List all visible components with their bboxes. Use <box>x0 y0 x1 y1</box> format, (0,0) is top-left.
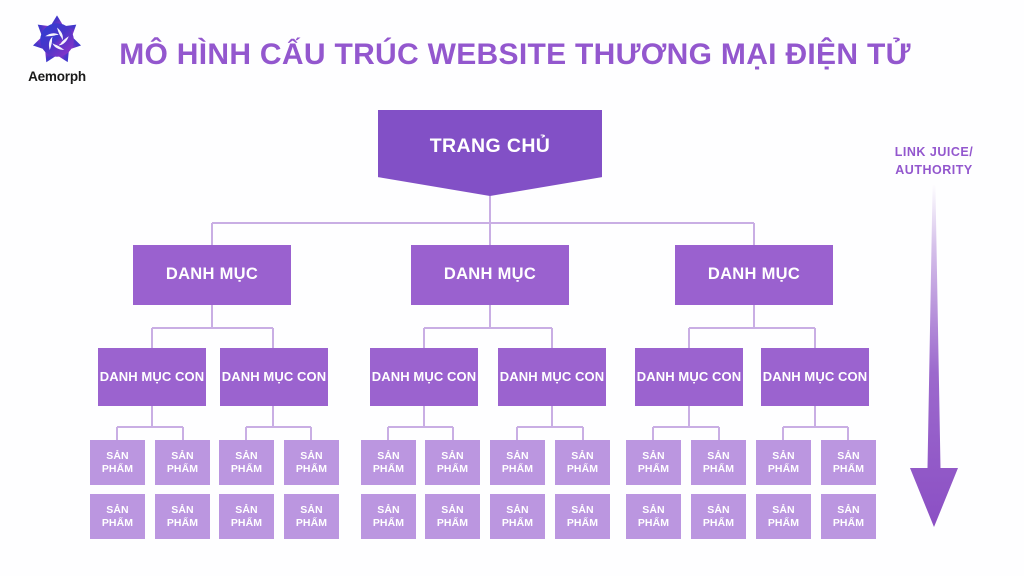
node-subcategory-3-1[interactable]: DANH MỤC CON <box>635 348 743 406</box>
node-category-label: DANH MỤC <box>444 265 536 284</box>
node-subcategory-label: DANH MỤC CON <box>763 369 867 384</box>
node-product-label: SẢN PHẨM <box>490 504 545 529</box>
node-subcategory-label: DANH MỤC CON <box>500 369 604 384</box>
node-product[interactable]: SẢN PHẨM <box>425 440 480 485</box>
node-subcategory-label: DANH MỤC CON <box>222 369 326 384</box>
node-subcategory-label: DANH MỤC CON <box>637 369 741 384</box>
node-product-label: SẢN PHẨM <box>219 450 274 475</box>
node-product-label: SẢN PHẨM <box>155 450 210 475</box>
link-juice-legend: LINK JUICE/ AUTHORITY <box>854 143 1014 179</box>
node-product[interactable]: SẢN PHẨM <box>555 494 610 539</box>
node-product-label: SẢN PHẨM <box>626 450 681 475</box>
node-subcategory-label: DANH MỤC CON <box>372 369 476 384</box>
node-subcategory-2-1[interactable]: DANH MỤC CON <box>370 348 478 406</box>
node-product[interactable]: SẢN PHẨM <box>821 494 876 539</box>
node-home[interactable]: TRANG CHỦ <box>378 110 602 196</box>
node-product-label: SẢN PHẨM <box>90 504 145 529</box>
node-product[interactable]: SẢN PHẨM <box>284 494 339 539</box>
node-product-label: SẢN PHẨM <box>284 504 339 529</box>
node-product[interactable]: SẢN PHẨM <box>490 440 545 485</box>
node-product[interactable]: SẢN PHẨM <box>756 440 811 485</box>
node-product-label: SẢN PHẨM <box>626 504 681 529</box>
link-juice-legend-line1: LINK JUICE/ <box>854 143 1014 161</box>
node-product-label: SẢN PHẨM <box>691 504 746 529</box>
node-product[interactable]: SẢN PHẨM <box>361 494 416 539</box>
node-subcategory-1-1[interactable]: DANH MỤC CON <box>98 348 206 406</box>
node-product[interactable]: SẢN PHẨM <box>361 440 416 485</box>
node-product[interactable]: SẢN PHẨM <box>90 440 145 485</box>
node-product[interactable]: SẢN PHẨM <box>284 440 339 485</box>
node-product-label: SẢN PHẨM <box>691 450 746 475</box>
node-category-2[interactable]: DANH MỤC <box>411 245 569 305</box>
node-product[interactable]: SẢN PHẨM <box>425 494 480 539</box>
link-juice-arrow-icon <box>884 182 984 542</box>
node-product-label: SẢN PHẨM <box>284 450 339 475</box>
node-product-label: SẢN PHẨM <box>821 450 876 475</box>
node-category-1[interactable]: DANH MỤC <box>133 245 291 305</box>
node-home-label: TRANG CHỦ <box>430 135 551 158</box>
node-product[interactable]: SẢN PHẨM <box>155 494 210 539</box>
infographic-page: Aemorph MÔ HÌNH CẤU TRÚC WEBSITE THƯƠNG … <box>0 0 1024 576</box>
node-product-label: SẢN PHẨM <box>155 504 210 529</box>
node-product[interactable]: SẢN PHẨM <box>219 440 274 485</box>
node-subcategory-2-2[interactable]: DANH MỤC CON <box>498 348 606 406</box>
node-product-label: SẢN PHẨM <box>555 504 610 529</box>
node-product-label: SẢN PHẨM <box>756 504 811 529</box>
node-product[interactable]: SẢN PHẨM <box>626 494 681 539</box>
node-product-label: SẢN PHẨM <box>90 450 145 475</box>
node-category-label: DANH MỤC <box>166 265 258 284</box>
node-subcategory-label: DANH MỤC CON <box>100 369 204 384</box>
node-product-label: SẢN PHẨM <box>555 450 610 475</box>
node-product-label: SẢN PHẨM <box>490 450 545 475</box>
node-category-label: DANH MỤC <box>708 265 800 284</box>
node-product-label: SẢN PHẨM <box>821 504 876 529</box>
node-product-label: SẢN PHẨM <box>425 450 480 475</box>
node-product-label: SẢN PHẨM <box>361 504 416 529</box>
node-subcategory-1-2[interactable]: DANH MỤC CON <box>220 348 328 406</box>
node-product-label: SẢN PHẨM <box>219 504 274 529</box>
node-product-label: SẢN PHẨM <box>756 450 811 475</box>
node-product[interactable]: SẢN PHẨM <box>490 494 545 539</box>
node-product[interactable]: SẢN PHẨM <box>691 440 746 485</box>
node-product[interactable]: SẢN PHẨM <box>555 440 610 485</box>
node-product[interactable]: SẢN PHẨM <box>626 440 681 485</box>
site-structure-diagram: TRANG CHỦ DANH MỤC DANH MỤC DANH MỤC DAN… <box>0 0 1024 576</box>
node-product[interactable]: SẢN PHẨM <box>756 494 811 539</box>
link-juice-legend-line2: AUTHORITY <box>854 161 1014 179</box>
node-product-label: SẢN PHẨM <box>361 450 416 475</box>
node-product[interactable]: SẢN PHẨM <box>155 440 210 485</box>
node-product[interactable]: SẢN PHẨM <box>219 494 274 539</box>
node-subcategory-3-2[interactable]: DANH MỤC CON <box>761 348 869 406</box>
node-category-3[interactable]: DANH MỤC <box>675 245 833 305</box>
node-product[interactable]: SẢN PHẨM <box>90 494 145 539</box>
node-product[interactable]: SẢN PHẨM <box>821 440 876 485</box>
node-product[interactable]: SẢN PHẨM <box>691 494 746 539</box>
node-product-label: SẢN PHẨM <box>425 504 480 529</box>
